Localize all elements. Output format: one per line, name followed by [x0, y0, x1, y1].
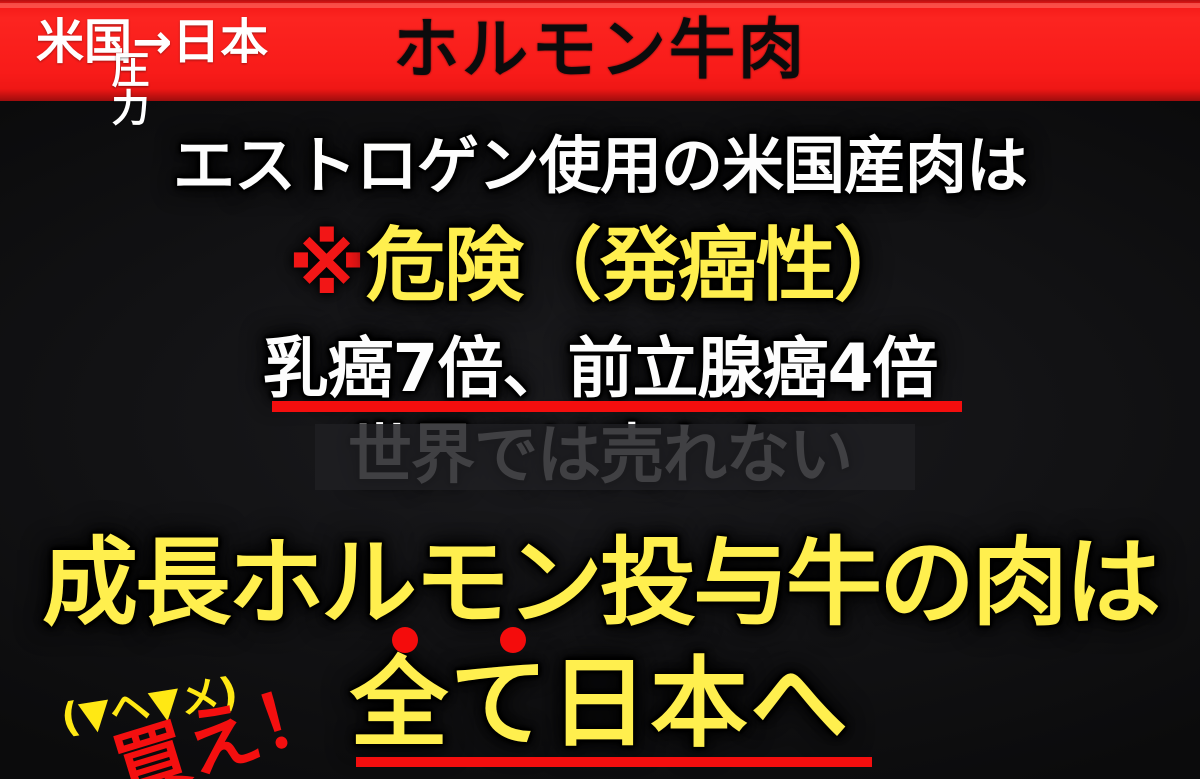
- statement-line-5: 成長ホルモン投与牛の肉は: [0, 525, 1200, 641]
- statement-line-1: エストロゲン使用の米国産肉は: [0, 128, 1200, 204]
- emphasis-dot-2: [500, 627, 526, 653]
- background-panel: [315, 424, 915, 490]
- statement-line-2: ※危険（発癌性）: [0, 218, 1200, 314]
- pressure-annotation: 米国→日本: [36, 14, 268, 70]
- underline-line-6: [356, 757, 872, 767]
- underline-line-3: [272, 401, 962, 412]
- slide-canvas: ホルモン牛肉 米国→日本 圧力 エストロゲン使用の米国産肉は ※危険（発癌性） …: [0, 0, 1200, 779]
- statement-line-2-text: 危険（発癌性）: [366, 219, 912, 312]
- reference-mark-icon: ※: [288, 219, 366, 312]
- emphasis-dot-1: [392, 627, 418, 653]
- annotation-flow-label: 米国→日本: [36, 14, 268, 70]
- annotation-vertical-label: 圧力: [105, 50, 147, 126]
- statement-line-3: 乳癌7倍、前立腺癌4倍: [0, 330, 1200, 408]
